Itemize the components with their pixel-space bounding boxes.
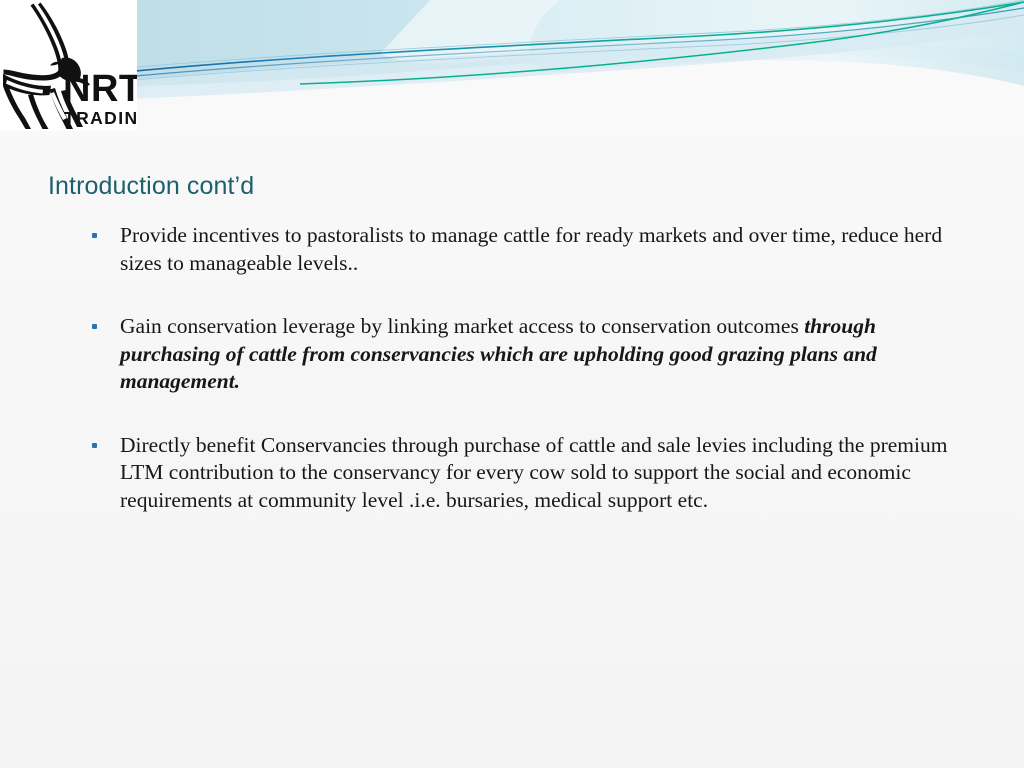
presentation-slide: NRT TRADING Introduction cont’d Provide …: [0, 0, 1024, 768]
bullet-point-icon: [88, 222, 120, 238]
bullet-text-2: Gain conservation leverage by linking ma…: [120, 313, 978, 396]
page-title: Introduction cont’d: [48, 172, 254, 201]
list-item: Directly benefit Conservancies through p…: [88, 432, 978, 515]
header-decoration: [0, 0, 1024, 140]
bullet-point-icon: [88, 313, 120, 329]
antelope-icon: NRT TRADING: [0, 0, 137, 131]
bullet-text-3: Directly benefit Conservancies through p…: [120, 432, 978, 515]
bullet-1-segment-normal: Provide incentives to pastoralists to ma…: [120, 223, 942, 275]
bullet-3-segment-normal: Directly benefit Conservancies through p…: [120, 433, 947, 512]
logo-text-trading: TRADING: [64, 108, 137, 128]
bullet-2-segment-normal: Gain conservation leverage by linking ma…: [120, 314, 804, 338]
bullet-point-icon: [88, 432, 120, 448]
list-item: Provide incentives to pastoralists to ma…: [88, 222, 978, 277]
bullet-text-1: Provide incentives to pastoralists to ma…: [120, 222, 978, 277]
list-item: Gain conservation leverage by linking ma…: [88, 313, 978, 396]
logo-text-nrt: NRT: [63, 68, 137, 110]
nrt-trading-logo: NRT TRADING: [0, 0, 137, 131]
slide-body: Provide incentives to pastoralists to ma…: [88, 222, 978, 514]
